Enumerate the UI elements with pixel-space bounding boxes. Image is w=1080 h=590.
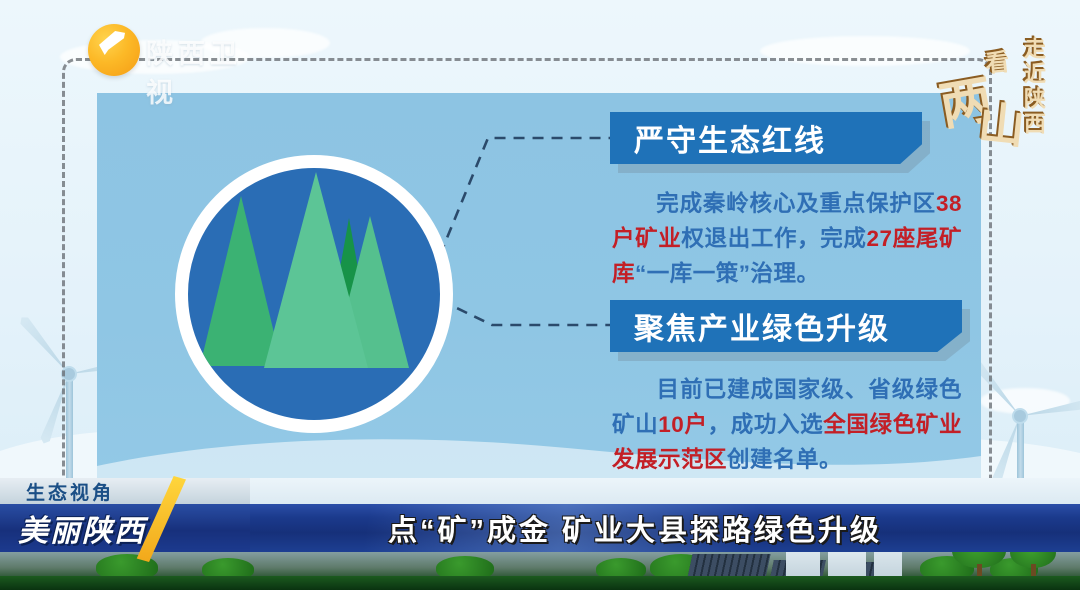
text-run: ，成功入选 bbox=[708, 412, 824, 437]
watermark-column-text: 走近陕西 bbox=[1016, 36, 1048, 136]
program-name-text: 美丽陕西 bbox=[18, 506, 146, 550]
section-1-body: 完成秦岭核心及重点保护区38户矿业权退出工作，完成27座尾矿库“一库一策”治理。 bbox=[612, 186, 962, 291]
solar-panel-icon bbox=[687, 554, 770, 578]
watermark-char-kan: 看 bbox=[982, 41, 1010, 78]
grass-strip bbox=[0, 576, 1080, 590]
screenshot-root: 严守生态红线 完成秦岭核心及重点保护区38户矿业权退出工作，完成27座尾矿库“一… bbox=[0, 0, 1080, 590]
section-heading-2: 聚焦产业绿色升级 bbox=[610, 300, 962, 352]
channel-name-text: 陕西卫视 bbox=[146, 32, 268, 110]
text-run: 创建名单。 bbox=[727, 447, 842, 472]
tree-shape bbox=[264, 172, 368, 368]
section-2-heading-text: 聚焦产业绿色升级 bbox=[610, 300, 962, 352]
column-label-badge: 生态视角 bbox=[0, 478, 250, 505]
broadcaster-logo: 陕西卫视 bbox=[88, 24, 268, 76]
lower-banner: 点“矿”成金 矿业大县探路绿色升级 生态视角 美丽陕西 bbox=[0, 478, 1080, 590]
section-2-body: 目前已建成国家级、省级绿色矿山10户，成功入选全国绿色矿业发展示范区创建名单。 bbox=[612, 372, 962, 477]
program-watermark: 看 两 山 走近陕西 bbox=[936, 32, 1048, 140]
forest-circle-icon bbox=[175, 155, 453, 433]
column-label-text: 生态视角 bbox=[26, 478, 114, 505]
text-run: 完成秦岭核心及重点保护区 bbox=[656, 191, 936, 216]
text-run-highlight: 10户 bbox=[658, 412, 707, 437]
section-1-heading-text: 严守生态红线 bbox=[610, 112, 922, 164]
program-name-badge: 美丽陕西 bbox=[0, 504, 250, 552]
text-run: 权退出工作，完成 bbox=[681, 226, 866, 251]
headline-text: 点“矿”成金 矿业大县探路绿色升级 bbox=[255, 504, 1015, 552]
section-heading-1: 严守生态红线 bbox=[610, 112, 922, 164]
sun-ball-icon bbox=[88, 24, 140, 76]
text-run: “一库一策”治理。 bbox=[635, 261, 820, 286]
